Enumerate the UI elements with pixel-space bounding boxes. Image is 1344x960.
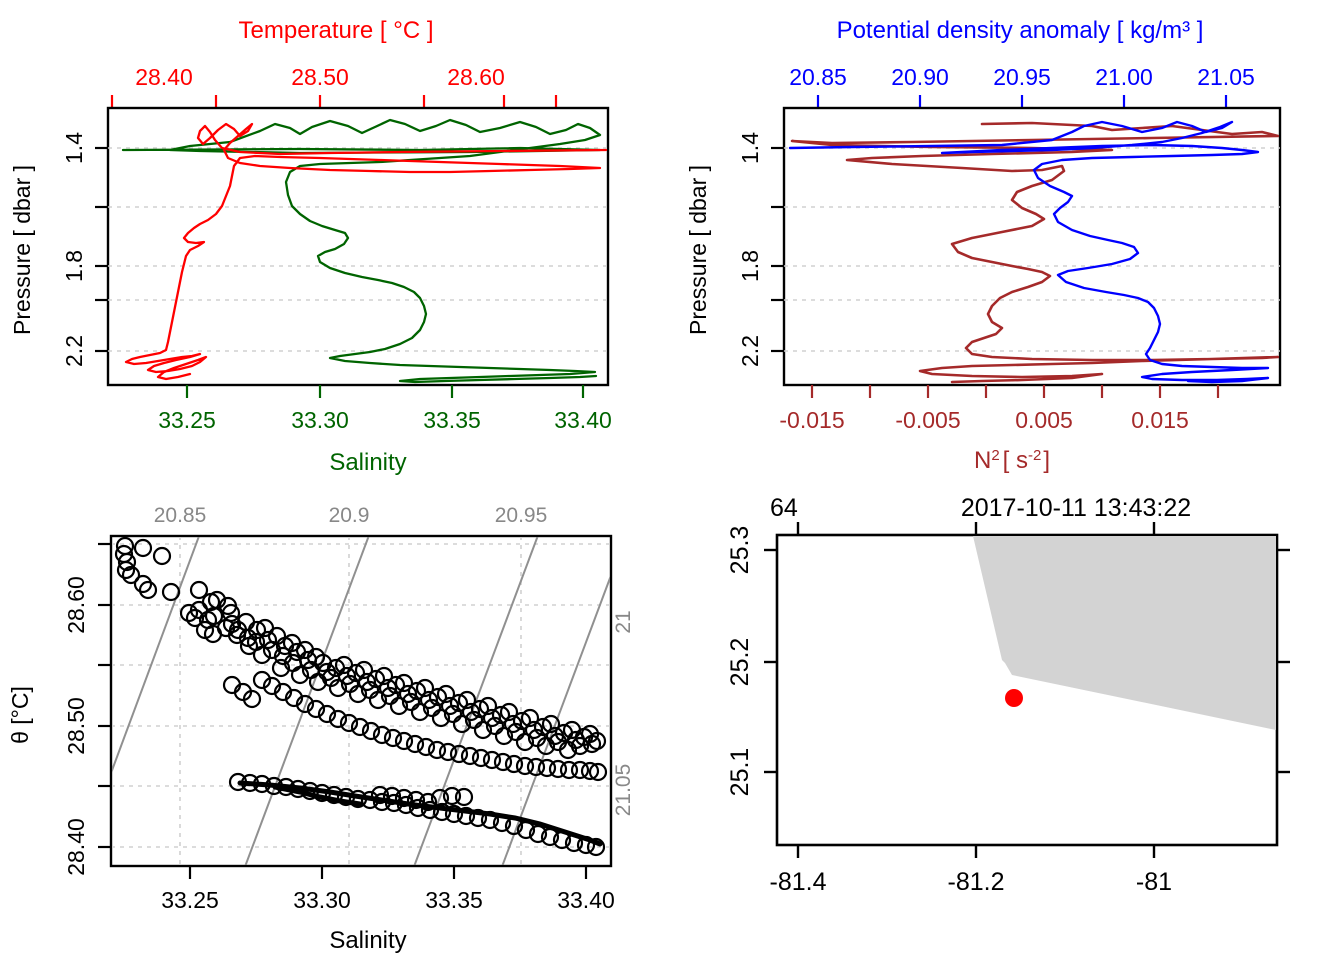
theta-tick-label: 28.40 bbox=[63, 818, 89, 876]
ts-salinity-tick-label: 33.30 bbox=[293, 887, 351, 913]
pressure-axis-left: Pressure [ dbar ] 1.4 1.8 2.2 bbox=[9, 132, 108, 367]
pressure-axis-right-panel: Pressure [ dbar ] 1.4 1.8 2.2 bbox=[685, 132, 784, 367]
n2-tick-label: -0.015 bbox=[779, 407, 844, 433]
latitude-tick-label: 25.3 bbox=[726, 526, 754, 575]
n2-tick-label: 0.005 bbox=[1015, 407, 1073, 433]
longitude-axis: -81.4 -81.2 -81 bbox=[770, 845, 1173, 896]
theta-axis: θ [°C] 28.40 28.50 28.60 bbox=[7, 544, 111, 876]
latitude-tick-label: 25.1 bbox=[726, 748, 754, 797]
isopycnal-label: 20.95 bbox=[495, 504, 548, 527]
longitude-tick-label: -81.2 bbox=[948, 868, 1005, 896]
density-tick-label: 20.90 bbox=[891, 64, 949, 90]
temperature-tick-label: 28.40 bbox=[135, 64, 193, 90]
density-tick-label: 20.95 bbox=[993, 64, 1051, 90]
theta-tick-label: 28.60 bbox=[63, 576, 89, 634]
n2-tick-label: -0.005 bbox=[895, 407, 960, 433]
pressure-axis-label: Pressure [ dbar ] bbox=[685, 165, 711, 335]
density-tick-label: 21.00 bbox=[1095, 64, 1153, 90]
ts-salinity-tick-label: 33.35 bbox=[425, 887, 483, 913]
temperature-tick-label: 28.60 bbox=[447, 64, 505, 90]
panel-density-n2-profile: Potential density anomaly [ kg/m³ ] 20.8… bbox=[672, 0, 1344, 480]
station-id-label: 64 bbox=[770, 494, 798, 522]
n2-axis-label: N2[ s-2] bbox=[974, 447, 1050, 475]
density-axis-label: Potential density anomaly [ kg/m³ ] bbox=[837, 17, 1204, 44]
map-right-ticks bbox=[1277, 550, 1290, 772]
pressure-tick-label: 1.4 bbox=[61, 132, 87, 164]
panel-station-map: 64 2017-10-11 13:43:22 25.3 25.2 25.1 bbox=[672, 480, 1344, 960]
n2-axis: -0.015 -0.005 0.005 0.015 N2[ s-2] bbox=[779, 385, 1218, 474]
ts-salinity-tick-label: 33.40 bbox=[557, 887, 615, 913]
pressure-tick-label: 2.2 bbox=[61, 335, 87, 367]
salinity-axis-label: Salinity bbox=[329, 449, 406, 476]
isopycnal-labels-top: 20.85 20.9 20.95 bbox=[154, 504, 548, 527]
n2-tick-label: 0.015 bbox=[1131, 407, 1189, 433]
density-tick-label: 20.85 bbox=[789, 64, 847, 90]
theta-tick-label: 28.50 bbox=[63, 697, 89, 755]
theta-axis-label: θ [°C] bbox=[7, 686, 33, 744]
salinity-tick-label: 33.30 bbox=[291, 407, 349, 433]
pressure-tick-label: 1.4 bbox=[737, 132, 763, 164]
isopycnal-label: 20.9 bbox=[329, 504, 370, 527]
temperature-axis-label: Temperature [ °C ] bbox=[239, 17, 434, 44]
salinity-tick-label: 33.35 bbox=[423, 407, 481, 433]
latitude-axis: 25.3 25.2 25.1 bbox=[726, 526, 777, 797]
pressure-axis-label: Pressure [ dbar ] bbox=[9, 165, 35, 335]
panel-temperature-salinity-profile: Temperature [ °C ] 28.40 28.50 28.60 Pre… bbox=[0, 0, 672, 480]
panel-ts-diagram: 20.85 20.9 20.95 21 21.05 θ [°C] 28.40 2… bbox=[0, 480, 672, 960]
temperature-tick-label: 28.50 bbox=[291, 64, 349, 90]
pressure-tick-label: 1.8 bbox=[61, 250, 87, 282]
ts-salinity-axis-label: Salinity bbox=[329, 927, 406, 954]
density-tick-label: 21.05 bbox=[1197, 64, 1255, 90]
salinity-tick-label: 33.40 bbox=[554, 407, 612, 433]
ctd-summary-figure: Temperature [ °C ] 28.40 28.50 28.60 Pre… bbox=[0, 0, 1344, 960]
longitude-tick-label: -81 bbox=[1136, 868, 1172, 896]
isopycnal-label: 21 bbox=[612, 610, 635, 633]
isopycnal-label: 20.85 bbox=[154, 504, 207, 527]
density-axis: Potential density anomaly [ kg/m³ ] 20.8… bbox=[789, 17, 1255, 108]
ts-salinity-tick-label: 33.25 bbox=[161, 887, 219, 913]
longitude-tick-label: -81.4 bbox=[770, 868, 827, 896]
ts-salinity-axis: 33.25 33.30 33.35 33.40 Salinity bbox=[161, 866, 615, 954]
station-marker[interactable] bbox=[1005, 689, 1023, 707]
pressure-tick-label: 2.2 bbox=[737, 335, 763, 367]
temperature-axis: Temperature [ °C ] 28.40 28.50 28.60 bbox=[112, 17, 556, 108]
map-top-ticks bbox=[798, 522, 1154, 535]
salinity-tick-label: 33.25 bbox=[158, 407, 216, 433]
salinity-axis: 33.25 33.30 33.35 33.40 Salinity bbox=[158, 385, 612, 476]
pressure-tick-label: 1.8 bbox=[737, 250, 763, 282]
isopycnal-label: 21.05 bbox=[612, 764, 635, 817]
timestamp-label: 2017-10-11 13:43:22 bbox=[961, 494, 1191, 522]
latitude-tick-label: 25.2 bbox=[726, 638, 754, 687]
isopycnal-labels-right: 21 21.05 bbox=[612, 610, 635, 816]
